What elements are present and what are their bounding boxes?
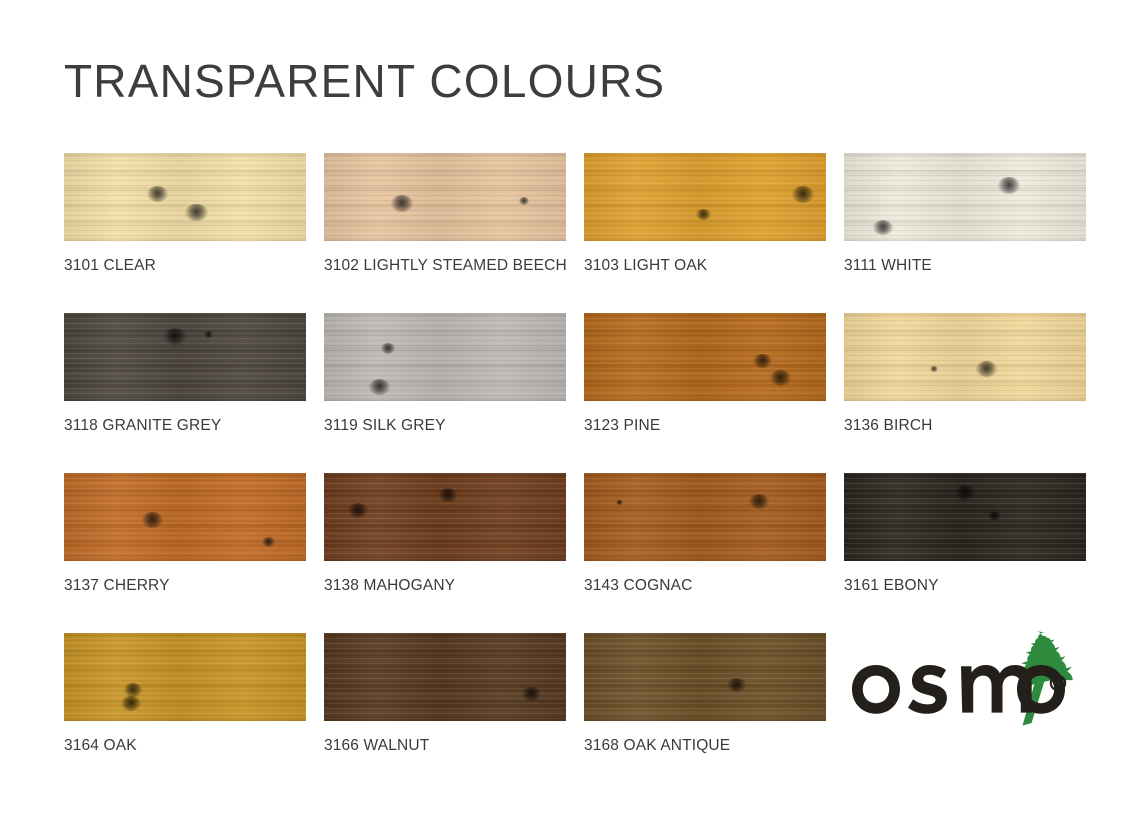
swatch-colour-chip[interactable] xyxy=(64,153,306,241)
wood-knot xyxy=(955,485,975,500)
swatch-cell[interactable]: 3118 GRANITE GREY xyxy=(64,313,306,473)
swatch-cell[interactable]: 3164 OAK xyxy=(64,633,306,793)
wood-shading-overlay xyxy=(584,153,826,241)
wood-knot xyxy=(976,361,997,377)
wood-shading-overlay xyxy=(64,313,306,401)
swatch-colour-chip[interactable] xyxy=(844,313,1086,401)
svg-text:R: R xyxy=(1055,679,1062,690)
swatch-colour-chip[interactable] xyxy=(324,473,566,561)
swatch-label: 3138 MAHOGANY xyxy=(324,577,455,595)
wood-knot xyxy=(616,500,623,505)
swatch-cell[interactable]: 3111 WHITE xyxy=(844,153,1086,313)
swatch-cell[interactable]: 3137 CHERRY xyxy=(64,473,306,633)
swatch-cell[interactable]: 3161 EBONY xyxy=(844,473,1086,633)
wood-shading-overlay xyxy=(64,473,306,561)
swatch-label: 3118 GRANITE GREY xyxy=(64,417,221,435)
wood-shading-overlay xyxy=(324,633,566,721)
wood-knot xyxy=(262,537,275,547)
swatch-cell[interactable]: 3138 MAHOGANY xyxy=(324,473,566,633)
swatch-label: 3119 SILK GREY xyxy=(324,417,446,435)
swatch-label: 3103 LIGHT OAK xyxy=(584,257,707,275)
swatch-colour-chip[interactable] xyxy=(584,153,826,241)
swatch-colour-chip[interactable] xyxy=(324,153,566,241)
wood-knot xyxy=(391,195,413,212)
wood-knot xyxy=(348,503,368,518)
swatch-colour-chip[interactable] xyxy=(64,473,306,561)
swatch-colour-chip[interactable] xyxy=(584,633,826,721)
wood-knot xyxy=(381,343,395,354)
swatch-colour-chip[interactable] xyxy=(64,313,306,401)
wood-knot xyxy=(519,197,529,205)
wood-shading-overlay xyxy=(64,633,306,721)
wood-knot xyxy=(522,687,541,701)
wood-shading-overlay xyxy=(584,313,826,401)
swatch-cell[interactable]: 3101 CLEAR xyxy=(64,153,306,313)
swatch-label: 3102 LIGHTLY STEAMED BEECH xyxy=(324,257,567,275)
swatch-cell[interactable]: 3168 OAK ANTIQUE xyxy=(584,633,826,793)
page-title: TRANSPARENT COLOURS xyxy=(64,48,1076,107)
swatch-label: 3111 WHITE xyxy=(844,257,932,275)
swatch-cell[interactable]: 3102 LIGHTLY STEAMED BEECH xyxy=(324,153,566,313)
wood-knot xyxy=(998,177,1020,194)
wood-knot xyxy=(369,379,390,395)
wood-knot xyxy=(727,678,746,692)
wood-knot xyxy=(439,488,457,502)
wood-knot xyxy=(124,683,142,697)
swatch-cell[interactable]: 3123 PINE xyxy=(584,313,826,473)
wood-shading-overlay xyxy=(584,473,826,561)
wood-knot xyxy=(164,328,186,345)
swatch-cell[interactable]: 3103 LIGHT OAK xyxy=(584,153,826,313)
swatch-colour-chip[interactable] xyxy=(64,633,306,721)
wood-knot xyxy=(988,511,1001,521)
swatch-label: 3101 CLEAR xyxy=(64,257,156,275)
colour-chart-page: TRANSPARENT COLOURS 3101 CLEAR3102 LIGHT… xyxy=(0,0,1140,820)
swatch-label: 3137 CHERRY xyxy=(64,577,170,595)
wood-knot xyxy=(749,494,769,509)
swatch-colour-chip[interactable] xyxy=(584,313,826,401)
wood-shading-overlay xyxy=(584,633,826,721)
swatch-colour-chip[interactable] xyxy=(844,473,1086,561)
wood-knot xyxy=(142,512,163,528)
wood-knot xyxy=(121,696,141,711)
wood-knot xyxy=(770,370,791,386)
swatch-cell[interactable]: 3119 SILK GREY xyxy=(324,313,566,473)
swatch-cell[interactable]: 3166 WALNUT xyxy=(324,633,566,793)
wood-knot xyxy=(696,209,711,220)
wood-knot xyxy=(185,204,208,221)
swatch-label: 3123 PINE xyxy=(584,417,660,435)
swatch-label: 3161 EBONY xyxy=(844,577,939,595)
wood-knot xyxy=(873,220,893,235)
wood-knot xyxy=(930,366,938,372)
swatch-cell[interactable]: 3143 COGNAC xyxy=(584,473,826,633)
swatch-colour-chip[interactable] xyxy=(324,313,566,401)
osmo-logo: R xyxy=(852,628,1084,732)
swatch-label: 3166 WALNUT xyxy=(324,737,429,755)
swatch-colour-chip[interactable] xyxy=(844,153,1086,241)
swatch-colour-chip[interactable] xyxy=(584,473,826,561)
wood-shading-overlay xyxy=(324,153,566,241)
wood-knot xyxy=(792,186,814,203)
swatch-label: 3143 COGNAC xyxy=(584,577,692,595)
wood-knot xyxy=(147,186,168,202)
swatch-label: 3164 OAK xyxy=(64,737,137,755)
wood-knot xyxy=(204,331,213,338)
wood-shading-overlay xyxy=(324,313,566,401)
swatch-label: 3168 OAK ANTIQUE xyxy=(584,737,730,755)
swatch-cell[interactable]: 3136 BIRCH xyxy=(844,313,1086,473)
swatch-label: 3136 BIRCH xyxy=(844,417,933,435)
wood-knot xyxy=(753,354,772,368)
wood-shading-overlay xyxy=(844,313,1086,401)
swatch-colour-chip[interactable] xyxy=(324,633,566,721)
wood-shading-overlay xyxy=(64,153,306,241)
